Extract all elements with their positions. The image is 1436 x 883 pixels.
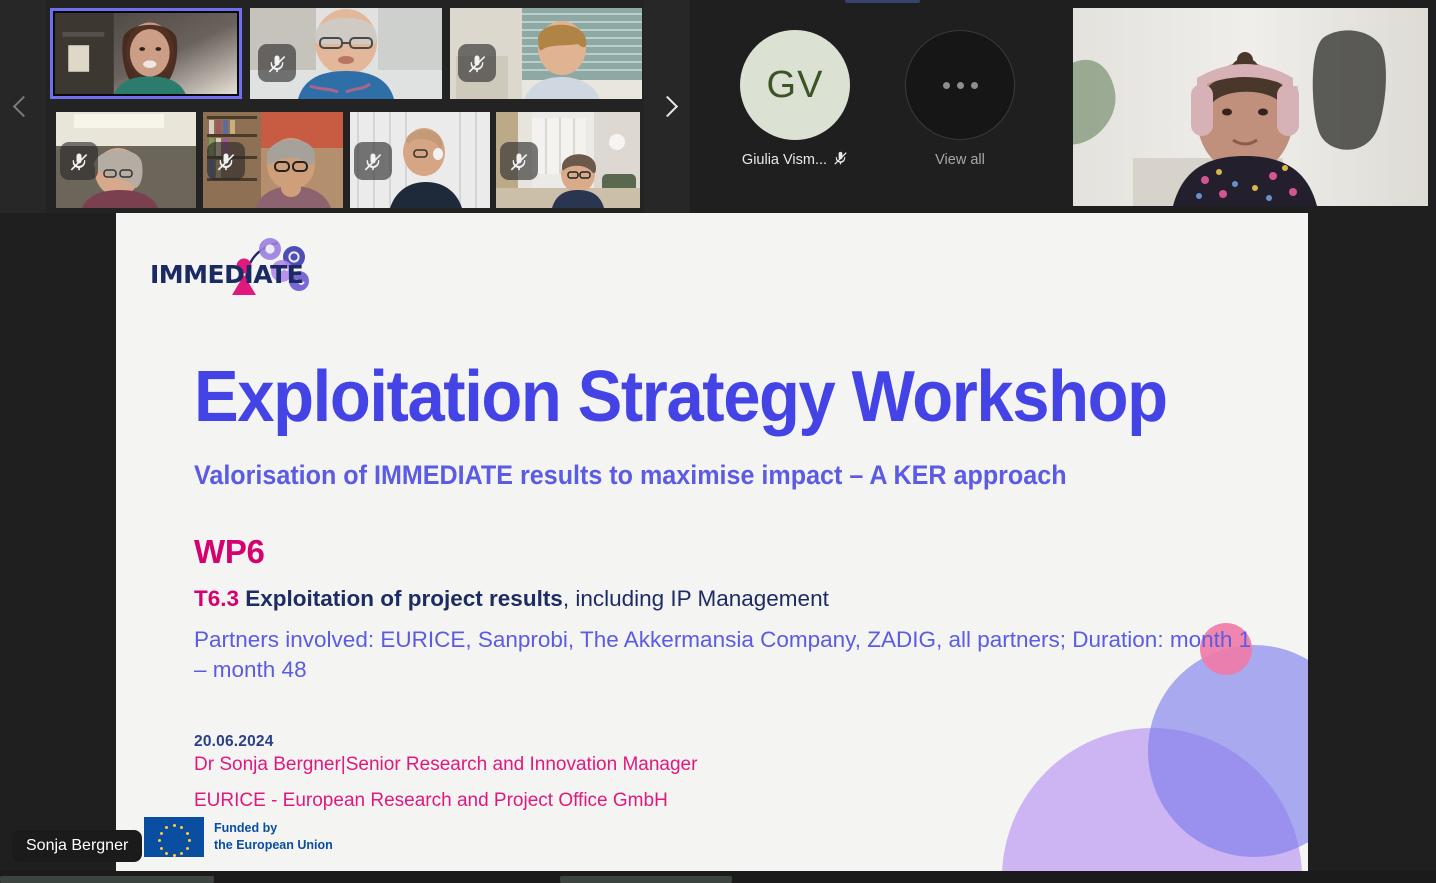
workpackage-heading: WP6 (194, 533, 1268, 571)
participant-name: Giulia Vism... (742, 152, 827, 168)
ellipsis-icon (905, 30, 1015, 140)
mic-muted-icon (354, 142, 392, 180)
slide-author: Dr Sonja Bergner|Senior Research and Inn… (194, 754, 1268, 776)
mic-muted-icon (833, 150, 848, 170)
mic-muted-icon (500, 142, 538, 180)
task-bold-text: Exploitation of project results (239, 586, 563, 611)
presenter-name-label: Sonja Bergner (12, 830, 142, 862)
participant-filmstrip (0, 0, 690, 213)
slide-content: Exploitation Strategy Workshop Valorisat… (194, 361, 1268, 812)
video-tile[interactable] (56, 112, 196, 208)
eu-flag-icon (144, 817, 204, 857)
slide-title: Exploitation Strategy Workshop (194, 361, 1193, 434)
participant-avatar-tile[interactable]: GV Giulia Vism... (738, 30, 852, 170)
filmstrip-tiles (50, 8, 640, 208)
meeting-window: GV Giulia Vism... View all (0, 0, 1436, 883)
video-tile[interactable] (496, 112, 640, 208)
task-rest-text: , including IP Management (563, 586, 829, 611)
chevron-right-icon (656, 96, 677, 117)
task-line: T6.3 Exploitation of project results, in… (194, 585, 1268, 612)
partners-line: Partners involved: EURICE, Sanprobi, The… (194, 625, 1254, 685)
view-all-label: View all (905, 152, 1015, 168)
toolbar-hint-center (560, 876, 732, 883)
view-all-button[interactable]: View all (905, 30, 1015, 168)
filmstrip-prev-button[interactable] (0, 0, 46, 213)
mic-muted-icon (60, 142, 98, 180)
participant-name-row: Giulia Vism... (738, 150, 852, 170)
video-tile[interactable] (203, 112, 343, 208)
top-window-indicator (845, 0, 920, 3)
slide-date: 20.06.2024 (194, 733, 1268, 751)
avatar: GV (740, 30, 850, 140)
eu-funding-line2: the European Union (214, 837, 333, 854)
chevron-left-icon (12, 96, 33, 117)
mic-muted-icon (258, 44, 296, 82)
video-tile-active-speaker[interactable] (50, 8, 242, 99)
eu-funding-badge: Funded by the European Union (144, 817, 333, 857)
video-tile[interactable] (250, 8, 442, 99)
slide-subtitle: Valorisation of IMMEDIATE results to max… (194, 460, 1193, 491)
eu-funding-text: Funded by the European Union (214, 820, 333, 854)
filmstrip-next-button[interactable] (644, 0, 690, 213)
eu-funding-line1: Funded by (214, 820, 333, 837)
logo-text: IMMEDIATE (150, 260, 303, 289)
mic-muted-icon (458, 44, 496, 82)
mic-muted-icon (207, 142, 245, 180)
video-tile[interactable] (350, 112, 490, 208)
toolbar-hint-left (0, 876, 214, 883)
task-number: T6.3 (194, 586, 239, 611)
video-tile[interactable] (450, 8, 642, 99)
slide-organisation: EURICE - European Research and Project O… (194, 790, 1268, 812)
bottom-toolbar (0, 871, 1436, 883)
avatar-initials: GV (767, 64, 824, 107)
video-tile-hero[interactable] (1073, 8, 1428, 206)
immediate-logo: IMMEDIATE (150, 235, 320, 297)
slide-meta: 20.06.2024 Dr Sonja Bergner|Senior Resea… (194, 733, 1268, 812)
shared-slide[interactable]: IMMEDIATE Exploitation Strategy Workshop… (116, 213, 1308, 871)
